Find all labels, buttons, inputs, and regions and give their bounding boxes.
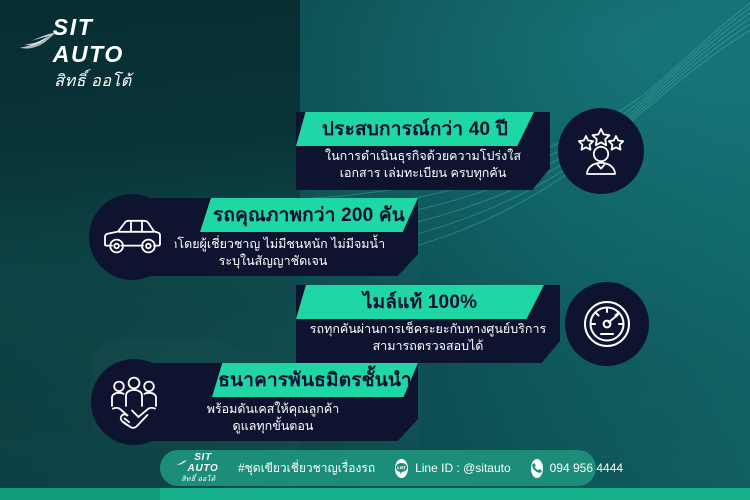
person-three-stars-icon [573, 123, 629, 179]
footer-brand-logo: SIT AUTO สิทธิ์ ออโต้ [176, 452, 221, 485]
feature-card-heading-band: ไมล์แท้ 100% [296, 285, 544, 319]
contact-footer-bar: SIT AUTO สิทธิ์ ออโต้ #ชุดเขียวเชี่ยวชาญ… [160, 450, 596, 486]
brand-name-th: สิทธิ์ ออโต้ [18, 69, 168, 94]
feature-line: ในการดำเนินธุรกิจด้วยความโปร่งใส [296, 148, 550, 165]
feature-line: เอกสาร เล่มทะเบียน ครบทุกคัน [296, 165, 550, 182]
footer-strip-left [0, 488, 160, 500]
infographic-canvas: SIT AUTO 086-8997979 [0, 0, 750, 500]
footer-brand-name-th: สิทธิ์ ออโต้ [176, 474, 221, 485]
icon-badge-bank-partners[interactable] [91, 359, 177, 445]
feature-card-heading-band: รถคุณภาพกว่า 200 คัน [200, 198, 418, 232]
feature-heading: ธนาคารพันธมิตรชั้นนำ [218, 365, 412, 395]
feature-card-experience[interactable]: ประสบการณ์กว่า 40 ปี ในการดำเนินธุรกิจด้… [296, 112, 550, 190]
feature-heading: ประสบการณ์กว่า 40 ปี [322, 114, 508, 144]
people-handshake-icon [105, 374, 163, 430]
feature-card-heading-band: ประสบการณ์กว่า 40 ปี [296, 112, 534, 146]
feature-card-real-mileage[interactable]: ไมล์แท้ 100% รถทุกคันผ่านการเช็คระยะกับท… [296, 285, 560, 363]
swoosh-s-logo-icon [18, 28, 57, 54]
brand-name-en: SIT AUTO [53, 14, 168, 68]
line-id-label: Line ID : @sitauto [415, 461, 511, 475]
footer-brand-name-en: SIT AUTO [185, 452, 221, 474]
icon-badge-quality-cars[interactable] [89, 194, 175, 280]
icon-badge-experience[interactable] [558, 108, 644, 194]
feature-line: รถทุกคันผ่านการเช็คระยะกับทางศูนย์บริการ [296, 321, 560, 338]
line-bubble-glyph-icon [395, 462, 408, 475]
speedometer-gauge-icon [580, 297, 634, 351]
phone-handset-icon[interactable] [531, 459, 543, 478]
line-messenger-icon[interactable] [395, 459, 408, 478]
phone-glyph-icon [531, 462, 543, 474]
car-suv-icon [101, 214, 163, 260]
feature-card-heading-band: ธนาคารพันธมิตรชั้นนำ [212, 363, 418, 397]
phone-number-label: 094 956 4444 [550, 461, 623, 475]
feature-description: รถทุกคันผ่านการเช็คระยะกับทางศูนย์บริการ… [296, 321, 560, 355]
feature-heading: ไมล์แท้ 100% [363, 287, 477, 317]
feature-heading: รถคุณภาพกว่า 200 คัน [213, 200, 405, 230]
icon-badge-real-mileage[interactable] [565, 282, 649, 366]
feature-line: ระบุในสัญญาชัดเจน [128, 253, 418, 270]
feature-description: ในการดำเนินธุรกิจด้วยความโปร่งใส เอกสาร … [296, 148, 550, 182]
feature-line: สามารถตรวจสอบได้ [296, 338, 560, 355]
footer-hashtag: #ชุดเขียวเชี่ยวชาญเรื่องรถ [238, 459, 375, 478]
brand-logo: SIT AUTO สิทธิ์ ออโต้ [18, 14, 168, 94]
